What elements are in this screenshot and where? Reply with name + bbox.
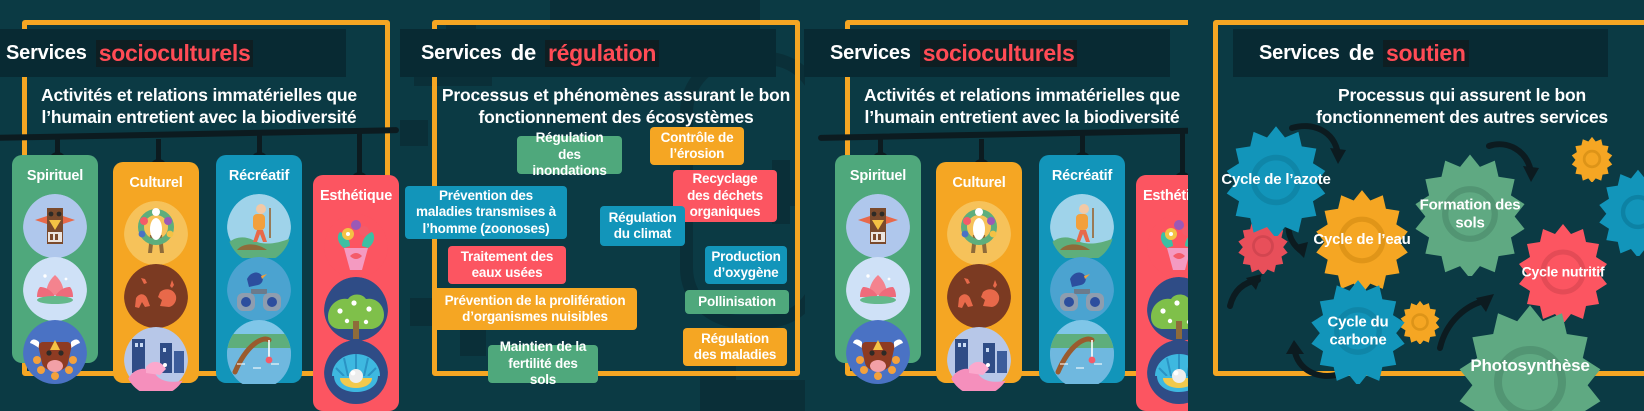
header-word-services: Services xyxy=(1259,42,1340,65)
tag-production-oxygene[interactable]: Production d’oxygène xyxy=(705,246,787,284)
panel-header-bar: Services de soutien xyxy=(1233,29,1608,77)
panel-regulation: Services de régulation Processus et phén… xyxy=(400,0,805,411)
blossom-tree-icon xyxy=(324,277,388,346)
card-spirituel[interactable]: Spirituel xyxy=(12,155,98,363)
city-pink-flamingo-icon xyxy=(124,327,188,396)
sacred-bull-icon xyxy=(846,320,910,389)
panel-subtitle: Activités et relations immatérielles que… xyxy=(849,84,1188,129)
card-label: Récréatif xyxy=(1052,168,1112,184)
tag-recyclage-dechets[interactable]: Recyclage des déchets organiques xyxy=(673,170,777,222)
card-label: Esthétique xyxy=(320,188,392,204)
header-word-services: Services xyxy=(830,42,911,65)
totem-pole-icon xyxy=(846,194,910,263)
flower-bouquet-icon xyxy=(324,214,388,283)
card-icon-stack xyxy=(846,190,910,389)
fishing-rod-icon xyxy=(1050,320,1114,389)
cave-painting-icon xyxy=(947,264,1011,333)
header-highlight: soutien xyxy=(1383,40,1469,67)
card-label: Culturel xyxy=(129,175,182,191)
card-icon-stack xyxy=(23,190,87,389)
card-recreatif[interactable]: Récréatif xyxy=(216,155,302,383)
card-culturel[interactable]: Culturel xyxy=(936,162,1022,383)
tag-fertilite-sols[interactable]: Maintien de la fertilité des sols xyxy=(488,345,598,383)
card-icon-stack xyxy=(124,197,188,396)
floral-wreath-icon xyxy=(947,201,1011,270)
panel-socioculturels-2: Services socioculturels Activités et rel… xyxy=(788,0,1188,411)
card-icon-stack xyxy=(227,190,291,389)
card-label: Spirituel xyxy=(27,168,83,184)
fishing-rod-icon xyxy=(227,320,291,389)
panel-socioculturels-1: Services socioculturels Activités et rel… xyxy=(0,0,400,411)
pearl-shell-icon xyxy=(324,340,388,409)
lotus-flower-icon xyxy=(846,257,910,326)
card-recreatif[interactable]: Récréatif xyxy=(1039,155,1125,383)
panel-header-bar: Services socioculturels xyxy=(0,29,346,77)
floral-wreath-icon xyxy=(124,201,188,270)
tag-prevention-zoonoses[interactable]: Prévention des maladies transmises à l’h… xyxy=(405,186,567,239)
card-culturel[interactable]: Culturel xyxy=(113,162,199,383)
card-spirituel[interactable]: Spirituel xyxy=(835,155,921,363)
tag-regulation-climat[interactable]: Régulation du climat xyxy=(600,206,685,246)
hiker-backpack-icon xyxy=(1050,194,1114,263)
card-drop-line xyxy=(357,129,362,175)
pipe-segment xyxy=(400,120,428,146)
card-label: Récréatif xyxy=(229,168,289,184)
hiker-backpack-icon xyxy=(227,194,291,263)
flow-arrow-icon xyxy=(1224,270,1266,312)
gear-photosynthese[interactable]: Photosynthèse xyxy=(1450,302,1610,411)
gear-cycle-eau[interactable]: Cycle de l’eau xyxy=(1310,188,1414,292)
tag-traitement-eaux-usees[interactable]: Traitement des eaux usées xyxy=(448,246,566,284)
panel-subtitle: Activités et relations immatérielles que… xyxy=(26,84,372,129)
tag-prevention-nuisibles[interactable]: Prévention de la prolifération d’organis… xyxy=(433,288,637,330)
birdwatching-binoculars-icon xyxy=(227,257,291,326)
tag-regulation-inondations[interactable]: Régulation des inondations xyxy=(517,136,622,174)
gear-cycle-carbone[interactable]: Cycle du carbone xyxy=(1305,278,1411,384)
city-pink-flamingo-icon xyxy=(947,327,1011,396)
header-highlight: socioculturels xyxy=(920,40,1078,67)
tag-regulation-maladies[interactable]: Régulation des maladies xyxy=(683,328,787,366)
card-icon-stack xyxy=(324,210,388,409)
header-highlight: régulation xyxy=(545,40,659,67)
lotus-flower-icon xyxy=(23,257,87,326)
birdwatching-binoculars-icon xyxy=(1050,257,1114,326)
header-word-de: de xyxy=(1349,40,1374,66)
panel-subtitle: Processus et phénomènes assurant le bon … xyxy=(440,84,792,129)
header-word-services: Services xyxy=(421,42,502,65)
header-highlight: socioculturels xyxy=(96,40,254,67)
card-icon-stack xyxy=(947,197,1011,396)
totem-pole-icon xyxy=(23,194,87,263)
panel-header-bar: Services de régulation xyxy=(400,29,776,77)
tag-pollinisation[interactable]: Pollinisation xyxy=(685,290,789,314)
panel-header-bar: Services socioculturels xyxy=(804,29,1170,77)
sacred-bull-icon xyxy=(23,320,87,389)
cave-painting-icon xyxy=(124,264,188,333)
card-label: Spirituel xyxy=(850,168,906,184)
card-icon-stack xyxy=(1050,190,1114,389)
tag-controle-erosion[interactable]: Contrôle de l’érosion xyxy=(650,127,744,165)
infographic-canvas: Services socioculturels Activités et rel… xyxy=(0,0,1644,411)
header-word-de: de xyxy=(511,40,536,66)
card-esthetique[interactable]: Esthétique xyxy=(313,175,399,411)
card-label: Culturel xyxy=(952,175,1005,191)
panel-soutien: Services de soutien Processus qui assure… xyxy=(1180,0,1644,411)
header-word-services: Services xyxy=(6,42,87,65)
